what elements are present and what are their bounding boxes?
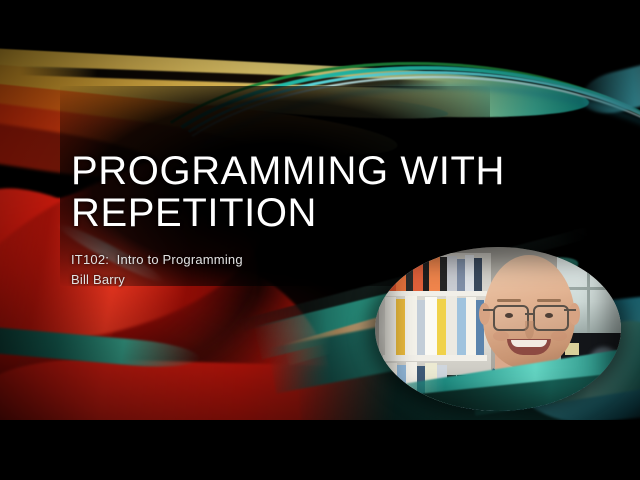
presentation-title-slide: Programming with Repetition IT102: Intro… [0, 0, 640, 480]
letterbox-bar-bottom [0, 420, 640, 480]
page-title: Programming with Repetition [71, 150, 541, 234]
letterbox-bar-top [0, 0, 640, 26]
subtitle-course: IT102: Intro to Programming [71, 250, 541, 270]
title-line-2: Repetition [71, 192, 541, 234]
title-line-1: Programming with [71, 150, 541, 192]
title-text-block: Programming with Repetition IT102: Intro… [71, 150, 541, 290]
subtitle-block: IT102: Intro to Programming Bill Barry [71, 250, 541, 290]
subtitle-presenter: Bill Barry [71, 270, 541, 290]
